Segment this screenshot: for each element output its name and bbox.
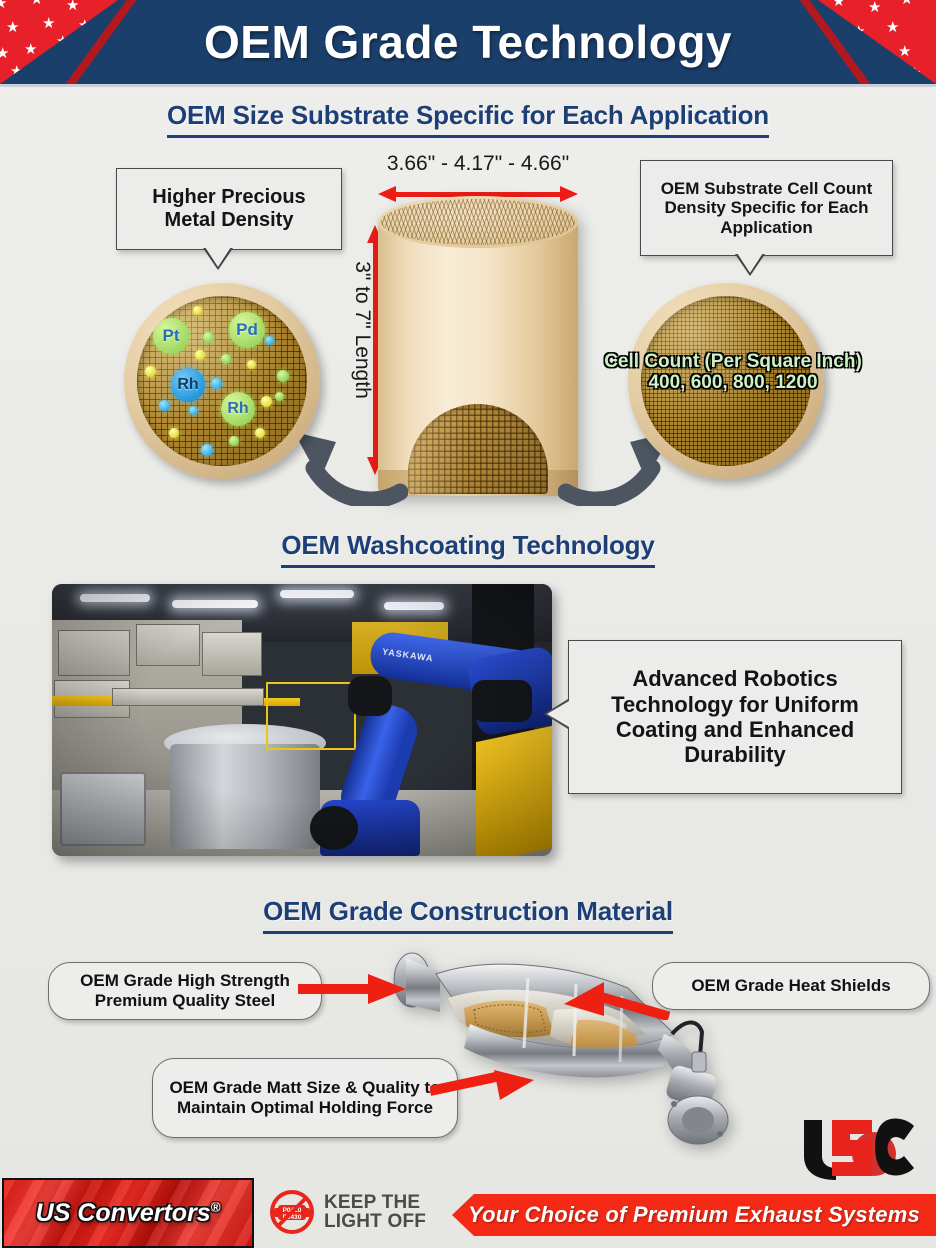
callout-advanced-robotics-text: Advanced Robotics Technology for Uniform…	[581, 666, 889, 767]
keep-light-off-text: KEEP THE LIGHT OFF	[324, 1193, 426, 1232]
tagline-banner: Your Choice of Premium Exhaust Systems	[452, 1194, 936, 1236]
metal-label-pd: Pd	[229, 312, 265, 348]
dimension-diameter-label: 3.66" - 4.17" - 4.66"	[338, 152, 618, 176]
section-title-construction-text: OEM Grade Construction Material	[263, 896, 673, 934]
no-check-engine-light-icon: P0420 P0430	[268, 1188, 316, 1236]
callout-matt-size-text: OEM Grade Matt Size & Quality to Maintai…	[163, 1078, 447, 1119]
substrate-cutaway	[408, 404, 548, 494]
tagline-text: Your Choice of Premium Exhaust Systems	[468, 1202, 920, 1228]
metal-label-rh-green: Rh	[221, 392, 255, 426]
section-title-size-text: OEM Size Substrate Specific for Each App…	[167, 100, 769, 138]
keep-line-1: KEEP THE	[324, 1193, 426, 1212]
cell-count-title: Cell Count (Per Square Inch)	[588, 352, 878, 373]
section-title-washcoating: OEM Washcoating Technology	[0, 530, 936, 568]
callout-precious-metal-density-text: Higher Precious Metal Density	[125, 186, 333, 232]
brand-name: US Convertors®	[36, 1199, 221, 1228]
metal-label-pt: Pt	[153, 318, 189, 354]
section-title-size: OEM Size Substrate Specific for Each App…	[0, 100, 936, 138]
header-banner: ★★ ★★ ★★ ★★ ★★ ★★ ★★ ★★ ★★ ★★ OEM Grade …	[0, 0, 936, 84]
callout-precious-metal-density: Higher Precious Metal Density	[116, 168, 342, 250]
infographic-page: ★★ ★★ ★★ ★★ ★★ ★★ ★★ ★★ ★★ ★★ OEM Grade …	[0, 0, 936, 1248]
cell-count-values: 400, 600, 800, 1200	[588, 373, 878, 394]
arrow-to-heat-shields	[560, 978, 670, 1020]
brand-plate: US Convertors®	[2, 1178, 254, 1248]
callout-tail	[737, 253, 763, 273]
keep-light-off-badge: P0420 P0430 KEEP THE LIGHT OFF	[268, 1188, 426, 1236]
usc-logo	[798, 1114, 920, 1182]
page-title: OEM Grade Technology	[0, 0, 936, 84]
arrow-to-steel	[298, 974, 408, 1004]
metal-label-rh-blue: Rh	[171, 368, 205, 402]
substrate-honeycomb-top	[378, 196, 578, 248]
substrate-cylinder	[378, 196, 578, 496]
cell-count-annotation: Cell Count (Per Square Inch) 400, 600, 8…	[588, 352, 878, 394]
callout-heat-shields: OEM Grade Heat Shields	[652, 962, 930, 1010]
substrate-disc-precious-metals: Pt Pd Rh Rh	[124, 283, 320, 479]
section-title-construction: OEM Grade Construction Material	[0, 896, 936, 934]
callout-cell-count-density: OEM Substrate Cell Count Density Specifi…	[640, 160, 893, 256]
callout-premium-steel: OEM Grade High Strength Premium Quality …	[48, 962, 322, 1020]
callout-advanced-robotics: Advanced Robotics Technology for Uniform…	[568, 640, 902, 794]
callout-tail	[547, 701, 569, 727]
dimension-length-label: 3" to 7" Length	[350, 260, 374, 400]
arrow-to-matt	[430, 1068, 540, 1102]
callout-tail	[205, 247, 231, 267]
callout-heat-shields-text: OEM Grade Heat Shields	[691, 976, 890, 996]
header-divider	[0, 84, 936, 87]
keep-line-2: LIGHT OFF	[324, 1212, 426, 1231]
washcoating-robotics-photo: YASKAWA	[52, 584, 552, 856]
callout-matt-size: OEM Grade Matt Size & Quality to Maintai…	[152, 1058, 458, 1138]
footer: US Convertors® P0420 P0430 KEEP THE LIGH…	[0, 1180, 936, 1248]
callout-cell-count-density-text: OEM Substrate Cell Count Density Specifi…	[649, 179, 884, 238]
section-title-washcoating-text: OEM Washcoating Technology	[281, 530, 654, 568]
callout-premium-steel-text: OEM Grade High Strength Premium Quality …	[59, 971, 311, 1012]
